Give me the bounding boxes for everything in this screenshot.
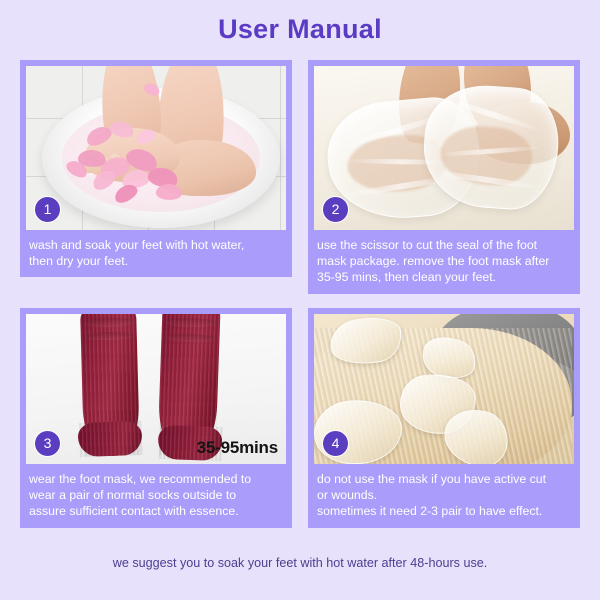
- caption-line: assure sufficient contact with essence.: [29, 503, 284, 519]
- footer-note: we suggest you to soak your feet with ho…: [0, 556, 600, 570]
- sock-ribbing: [77, 421, 142, 457]
- caption-line: wear the foot mask, we recommended to: [29, 471, 284, 487]
- scene-peeling-skin: [314, 314, 574, 464]
- step-card-3: 35-95mins 3 wear the foot mask, we recom…: [20, 308, 292, 528]
- caption-line: wear a pair of normal socks outside to: [29, 487, 284, 503]
- step-1-badge: 1: [34, 196, 61, 223]
- step-3-caption: wear the foot mask, we recommended to we…: [20, 464, 292, 528]
- step-4-caption: do not use the mask if you have active c…: [308, 464, 580, 528]
- caption-line: or wounds.: [317, 487, 572, 503]
- caption-line: sometimes it need 2-3 pair to have effec…: [317, 503, 572, 519]
- step-card-1: 1 wash and soak your feet with hot water…: [20, 60, 292, 277]
- user-manual-infographic: User Manual: [0, 0, 600, 600]
- step-card-2: 2 use the scissor to cut the seal of the…: [308, 60, 580, 294]
- step-1-caption: wash and soak your feet with hot water, …: [20, 230, 292, 277]
- sock-toe-left: [77, 421, 142, 457]
- caption-line: do not use the mask if you have active c…: [317, 471, 572, 487]
- step-2-caption: use the scissor to cut the seal of the f…: [308, 230, 580, 294]
- scene-foot-bath: [26, 66, 286, 230]
- step-4-badge: 4: [322, 430, 349, 457]
- scene-foot-mask-booties: [314, 66, 574, 230]
- step-2-badge: 2: [322, 196, 349, 223]
- page-title: User Manual: [0, 14, 600, 45]
- duration-overlay: 35-95mins: [197, 438, 278, 458]
- step-3-badge: 3: [34, 430, 61, 457]
- step-card-4: 4 do not use the mask if you have active…: [308, 308, 580, 528]
- caption-line: wash and soak your feet with hot water,: [29, 237, 284, 253]
- caption-line: mask package. remove the foot mask after: [317, 253, 572, 269]
- step-4-photo: 4: [314, 314, 574, 464]
- caption-line: 35-95 mins, then clean your feet.: [317, 269, 572, 285]
- caption-line: then dry your feet.: [29, 253, 284, 269]
- step-2-photo: 2: [314, 66, 574, 230]
- step-3-photo: 35-95mins 3: [26, 314, 286, 464]
- step-1-photo: 1: [26, 66, 286, 230]
- caption-line: use the scissor to cut the seal of the f…: [317, 237, 572, 253]
